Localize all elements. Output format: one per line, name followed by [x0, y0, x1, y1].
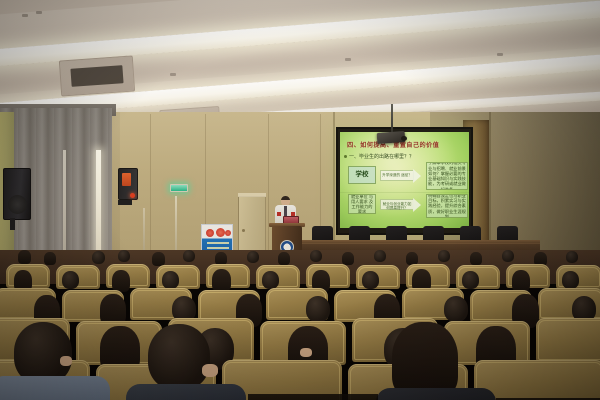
- audience-head: [438, 250, 450, 262]
- wall-speaker-icon: [3, 168, 31, 220]
- door-header-light: [238, 193, 266, 197]
- fire-alarm-icon[interactable]: [118, 168, 138, 200]
- alarm-mount: [118, 200, 132, 205]
- projector-mount-pole: [391, 104, 393, 134]
- audience-head: [278, 252, 290, 265]
- audience-head: [247, 251, 259, 263]
- audience-head: [212, 269, 231, 292]
- audience-head: [183, 250, 195, 262]
- audience-head: [444, 296, 468, 322]
- exit-sign-icon: [170, 184, 188, 192]
- projection-screen-frame: 四、如何提高、重置自己的价值 一、毕业生的出路在哪里？？ 学校 升学深造的 途径…: [336, 127, 473, 235]
- audience-hand: [300, 348, 312, 357]
- audience-shoulders-foreground-left: [0, 376, 110, 400]
- audience-head-foreground-center: [148, 324, 210, 390]
- alarm-button-icon[interactable]: [122, 173, 131, 186]
- audience-head: [462, 271, 479, 289]
- slide-row1-arrow-label: 升学深造的 途径？: [381, 173, 413, 177]
- sprinkler-head-3: [345, 58, 351, 61]
- banner-graphic-2: [216, 228, 225, 237]
- sprinkler-head-1: [22, 14, 28, 17]
- slide-row2-left-box: 就业单位 与用人要求 及工作能力的要求: [348, 194, 376, 214]
- audience-head: [306, 296, 330, 322]
- audience-shoulders-foreground-center: [126, 384, 246, 400]
- audience-head: [562, 271, 579, 289]
- audience-hand: [202, 364, 218, 377]
- ceiling: [0, 0, 600, 120]
- audience-head: [118, 250, 130, 262]
- banner-graphic-1: [206, 229, 214, 237]
- air-conditioner-vent-1: [59, 55, 135, 96]
- audience-head: [502, 250, 514, 262]
- audience-head: [162, 271, 179, 289]
- alarm-indicator-led: [130, 193, 135, 198]
- audience-head: [310, 250, 322, 262]
- slide-row1-arrow-icon: 升学深造的 途径？: [380, 170, 414, 181]
- slide-row2-arrow-label: 就业与创业能力如何提高提升？: [381, 202, 413, 211]
- audience-area: [0, 248, 600, 400]
- lecture-hall-photo: 四、如何提高、重置自己的价值 一、毕业生的出路在哪里？？ 学校 升学深造的 途径…: [0, 0, 600, 400]
- audience-shoulders-foreground-right: [376, 388, 496, 400]
- sprinkler-head-4: [497, 53, 503, 56]
- audience-head-foreground-left: [14, 322, 72, 384]
- door-handle-icon[interactable]: [242, 229, 245, 232]
- audience-head: [342, 252, 354, 265]
- slide-bullet-icon: [344, 155, 347, 158]
- audience-head: [566, 251, 578, 263]
- sprinkler-head-2: [36, 11, 42, 14]
- slide-row1-left-box: 学校: [348, 166, 376, 184]
- audience-head: [62, 271, 79, 289]
- audience-head: [374, 250, 386, 262]
- banner-text-line-1: [207, 242, 229, 244]
- slide-subtitle: 一、毕业生的出路在哪里？？: [349, 153, 463, 160]
- audience-head: [92, 251, 105, 264]
- screen-scan-band: [340, 192, 469, 193]
- audience-head: [362, 271, 379, 289]
- audience-head: [152, 252, 165, 266]
- audience-head: [512, 270, 530, 292]
- audience-hand: [60, 356, 72, 366]
- foreground-shadow-center: [248, 394, 378, 400]
- sprinkler-head-5: [170, 73, 176, 76]
- audience-head: [18, 250, 31, 264]
- audience-head: [112, 270, 130, 292]
- banner-graphic-3: [225, 230, 231, 236]
- audience-head: [262, 271, 279, 289]
- slide-row1-right-box: 了解本学校的相关专业与招聘、就业前景如何？掌握必要的专业基础知识与实践技能，为考…: [426, 162, 468, 190]
- projector-lens-icon: [401, 136, 407, 141]
- projection-screen: 四、如何提高、重置自己的价值 一、毕业生的出路在哪里？？ 学校 升学深造的 途径…: [340, 132, 469, 228]
- audience-head: [44, 252, 56, 265]
- presenter-badge-left: [277, 212, 281, 216]
- auditorium-seat[interactable]: [536, 318, 600, 362]
- curtain-light-gap-2: [63, 150, 66, 260]
- speaker-bracket: [10, 218, 15, 230]
- slide-row2-arrow-icon: 就业与创业能力如何提高提升？: [380, 199, 414, 210]
- audience-head: [470, 252, 482, 265]
- slide-row2-right-box: 明确自我定位与职业目标，积累实习与实践经验，提升综合素质，做好职业生涯规划: [426, 194, 468, 218]
